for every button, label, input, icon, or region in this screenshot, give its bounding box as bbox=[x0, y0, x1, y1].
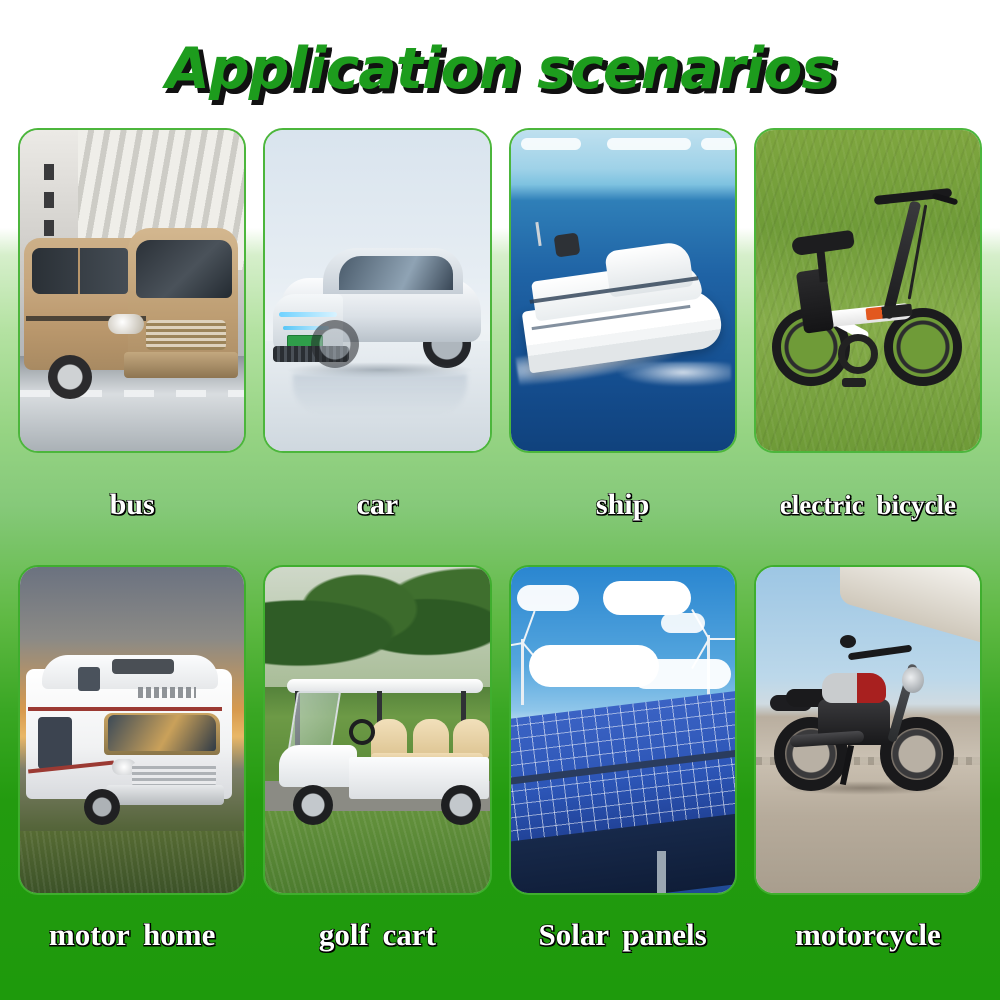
wheel-icon bbox=[311, 320, 359, 368]
window-icon bbox=[44, 164, 54, 180]
bus-windshield-icon bbox=[136, 240, 232, 298]
scenario-row-1 bbox=[18, 128, 982, 453]
wake-icon bbox=[611, 362, 731, 388]
page-title: Application scenarios bbox=[166, 36, 835, 102]
scenario-card-motorcycle[interactable] bbox=[754, 565, 982, 895]
motor-home-image bbox=[20, 567, 244, 893]
funnel-icon bbox=[553, 232, 580, 257]
scenario-row-2 bbox=[18, 565, 982, 895]
scenario-card-motor-home[interactable] bbox=[18, 565, 246, 895]
roof-vent-icon bbox=[112, 659, 174, 674]
windshield-icon bbox=[108, 715, 216, 751]
window-icon bbox=[44, 192, 54, 208]
mounting-leg-icon bbox=[657, 851, 666, 893]
stripe-icon bbox=[28, 707, 222, 711]
bus-image bbox=[20, 130, 244, 451]
scenario-card-solar-panels[interactable] bbox=[509, 565, 737, 895]
electric-bicycle-image bbox=[756, 130, 980, 451]
scenario-label-row-1: bus car ship electric bicycle bbox=[18, 488, 982, 522]
scenario-card-golf-cart[interactable] bbox=[263, 565, 491, 895]
headlight-icon bbox=[108, 314, 144, 334]
label-motorcycle: motorcycle bbox=[754, 918, 982, 952]
scenario-card-electric-bicycle[interactable] bbox=[754, 128, 982, 453]
cloud-icon bbox=[631, 659, 731, 689]
scenario-card-ship[interactable] bbox=[509, 128, 737, 453]
rv-brand-text-icon bbox=[138, 687, 196, 698]
handlebar-icon bbox=[848, 645, 912, 661]
application-scenarios-page: Application scenarios bbox=[0, 0, 1000, 1000]
label-electric-bicycle: electric bicycle bbox=[754, 488, 982, 522]
golf-cart-image bbox=[265, 567, 489, 893]
label-bus: bus bbox=[18, 488, 246, 522]
cloud-icon bbox=[701, 138, 735, 150]
turbine-blade-icon bbox=[709, 638, 735, 640]
cloud-icon bbox=[607, 138, 691, 150]
label-solar-panels: Solar panels bbox=[509, 918, 737, 952]
window-icon bbox=[38, 717, 72, 769]
grass-texture-icon bbox=[756, 130, 980, 451]
bumper-icon bbox=[106, 785, 224, 805]
motorcycle-image bbox=[756, 567, 980, 893]
cloud-icon bbox=[603, 581, 691, 615]
label-golf-cart: golf cart bbox=[263, 918, 491, 952]
label-ship: ship bbox=[509, 488, 737, 522]
turbine-blade-icon bbox=[511, 642, 523, 650]
wheel-icon bbox=[48, 355, 92, 399]
hood-icon bbox=[279, 745, 357, 787]
car-image bbox=[265, 130, 489, 451]
label-motor-home: motor home bbox=[18, 918, 246, 952]
wheel-icon bbox=[293, 785, 333, 825]
reflection-icon bbox=[293, 374, 467, 414]
awning-icon bbox=[840, 567, 980, 645]
wind-turbine-icon bbox=[521, 639, 524, 705]
grass-icon bbox=[20, 831, 244, 893]
pedal-icon bbox=[842, 378, 866, 387]
window-icon bbox=[44, 220, 54, 236]
turbine-blade-icon bbox=[522, 611, 536, 644]
car-windshield-icon bbox=[339, 256, 453, 290]
daytime-running-light-icon bbox=[279, 312, 337, 317]
cloud-icon bbox=[517, 585, 579, 611]
solar-panels-image bbox=[511, 567, 735, 893]
wheel-icon bbox=[441, 785, 481, 825]
mast-icon bbox=[535, 222, 541, 246]
wheel-icon bbox=[84, 789, 120, 825]
scenario-card-car[interactable] bbox=[263, 128, 491, 453]
mirror-icon bbox=[840, 635, 856, 648]
trees-icon bbox=[265, 567, 489, 687]
crank-icon bbox=[838, 334, 878, 374]
ship-image bbox=[511, 130, 735, 451]
bumper-icon bbox=[124, 352, 238, 378]
grille-icon bbox=[146, 320, 226, 350]
bus-side-window-icon bbox=[32, 248, 128, 294]
label-car: car bbox=[263, 488, 491, 522]
headlight-icon bbox=[902, 667, 924, 693]
fuel-tank-icon bbox=[822, 673, 886, 703]
scenario-card-bus[interactable] bbox=[18, 128, 246, 453]
cloud-icon bbox=[521, 138, 581, 150]
scenario-label-row-2: motor home golf cart Solar panels motorc… bbox=[18, 918, 982, 952]
window-icon bbox=[78, 667, 100, 691]
grille-icon bbox=[132, 763, 216, 787]
cloud-icon bbox=[661, 613, 705, 633]
page-title-container: Application scenarios bbox=[0, 36, 1000, 106]
